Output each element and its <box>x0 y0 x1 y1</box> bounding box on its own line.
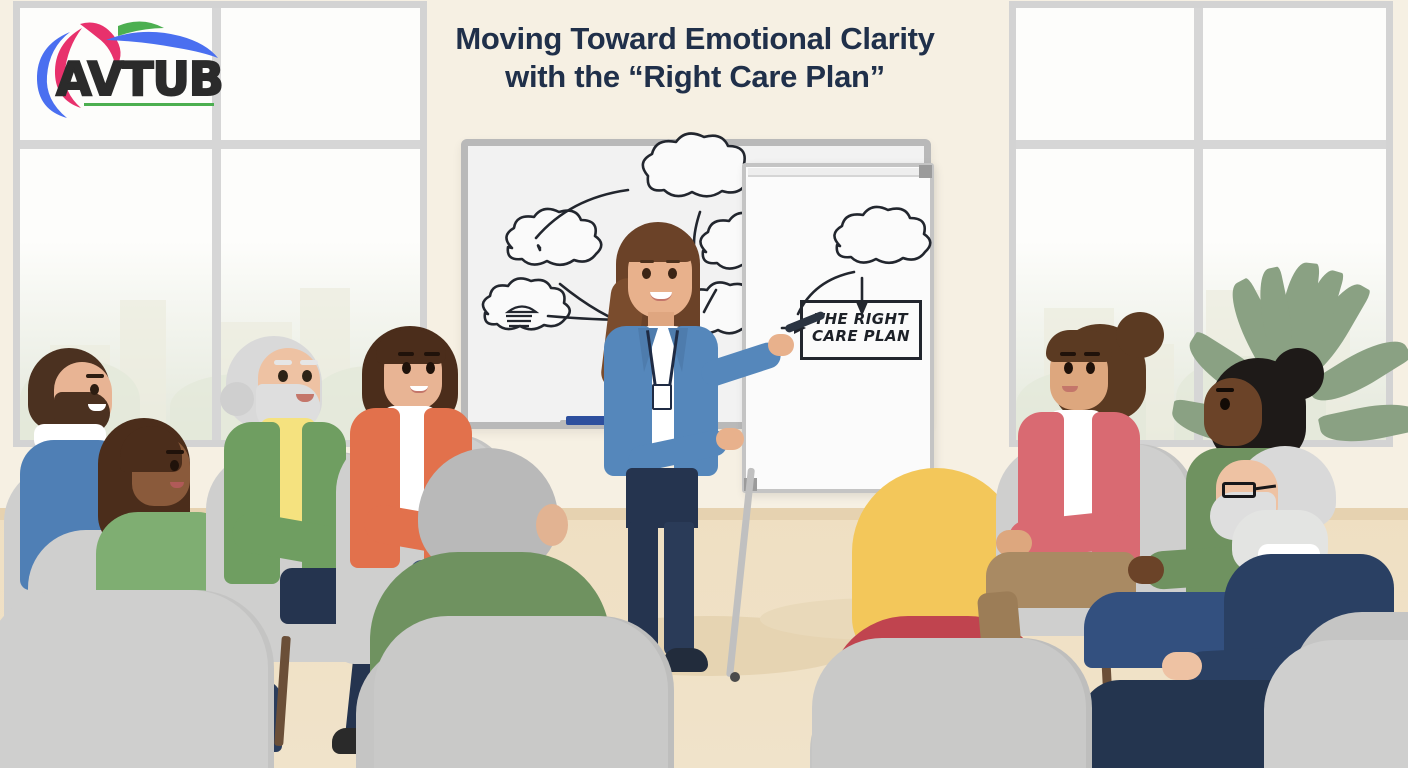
logo-wordmark: AVTUB <box>56 52 223 106</box>
eye-left <box>278 370 288 382</box>
logo-underline <box>84 103 214 106</box>
presenter-eye-left <box>642 268 651 279</box>
eye-right <box>302 370 312 382</box>
eye <box>1220 398 1230 410</box>
chair-foreground-right <box>812 638 1092 768</box>
presenter-brow-left <box>640 260 654 263</box>
window-mullion-horizontal <box>1016 140 1386 149</box>
flipchart-corner <box>919 165 932 178</box>
window-mullion-horizontal <box>20 140 420 149</box>
brow <box>1216 388 1234 392</box>
eye <box>90 384 99 395</box>
hair-front <box>376 330 446 364</box>
presenter-leg-right <box>664 522 694 656</box>
hair-bun <box>1116 312 1164 358</box>
chair-foreground-far-right <box>1264 640 1408 768</box>
eye-left <box>1064 362 1073 374</box>
title-line-1: Moving Toward Emotional Clarity <box>330 20 1060 58</box>
hair-bun <box>220 382 254 416</box>
id-badge <box>652 384 672 410</box>
brow <box>166 450 184 454</box>
presenter-hand-right <box>768 334 794 356</box>
care-plan-box: THE RIGHT CARE PLAN <box>800 300 922 360</box>
chair-foreground-center <box>374 616 674 768</box>
presenter-brow-right <box>666 260 680 263</box>
brow <box>86 374 104 378</box>
eye <box>170 460 179 471</box>
hand <box>1162 652 1202 680</box>
presenter-fringe <box>624 230 696 262</box>
eye-left <box>402 362 411 374</box>
hair-front <box>1046 330 1112 362</box>
presenter-eye-right <box>668 268 677 279</box>
avtub-logo[interactable]: AVTUB <box>18 10 228 118</box>
flipchart-clip <box>748 168 928 177</box>
jacket-left <box>224 422 280 584</box>
chair-foreground-left <box>0 590 274 768</box>
title-line-2: with the “Right Care Plan” <box>330 58 1060 96</box>
hand <box>1128 556 1164 584</box>
eye-right <box>426 362 435 374</box>
brow-left <box>1060 352 1076 356</box>
illustration-scene: THE RIGHT CARE PLAN <box>0 0 1408 768</box>
brow-right <box>300 360 318 365</box>
presenter-hand-left <box>716 428 744 450</box>
glasses-lens <box>1222 482 1256 498</box>
care-plan-line-2: CARE PLAN <box>803 328 919 345</box>
brow-right <box>1084 352 1100 356</box>
brow-right <box>424 352 440 356</box>
eye-right <box>1086 362 1095 374</box>
hair-bun <box>1272 348 1324 400</box>
page-title: Moving Toward Emotional Clarity with the… <box>330 20 1060 96</box>
ear <box>536 504 568 546</box>
brow-left <box>274 360 292 365</box>
brow-left <box>398 352 414 356</box>
